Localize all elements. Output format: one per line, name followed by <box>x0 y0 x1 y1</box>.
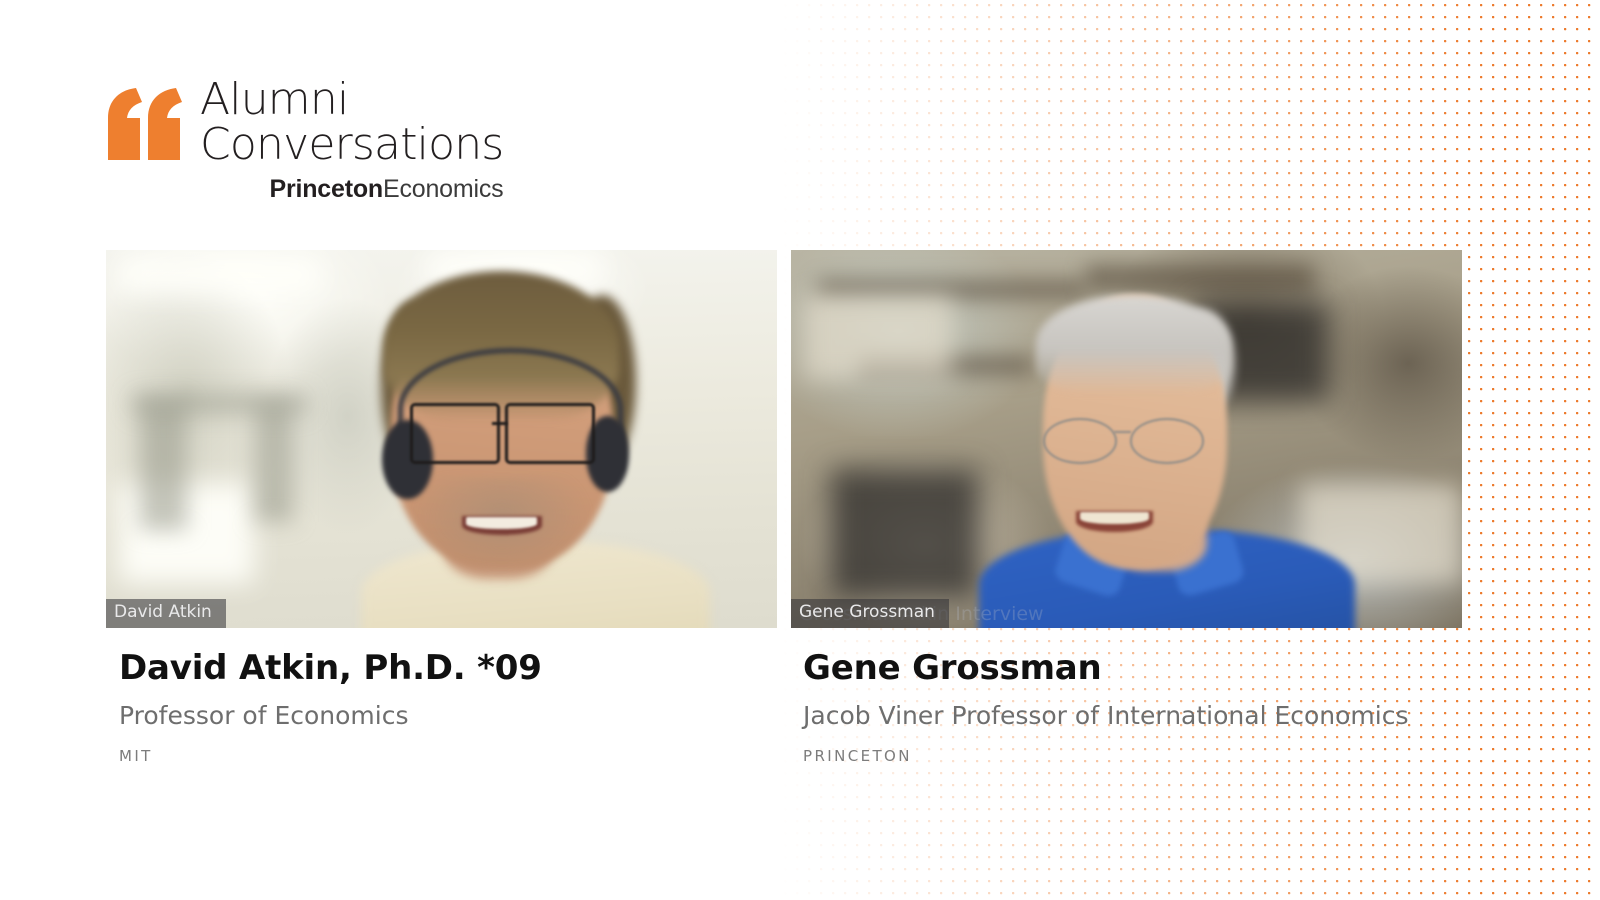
slide-canvas: Alumni Conversations PrincetonEconomics … <box>0 0 1600 900</box>
speaker-title: Jacob Viner Professor of International E… <box>803 697 1423 734</box>
eyeglasses-lens-left <box>410 403 500 464</box>
bookshelf-blur <box>1086 265 1314 291</box>
speaker-info-left: David Atkin, Ph.D. *09 Professor of Econ… <box>119 648 759 765</box>
video-tile-left[interactable]: David Atkin <box>106 250 777 628</box>
speaker-name: David Atkin, Ph.D. *09 <box>119 648 759 688</box>
person-hair <box>1036 295 1231 393</box>
video-tile-right[interactable]: Grossman Atkin Interview Gene Grossman <box>791 250 1462 628</box>
room-light-beam <box>119 258 320 292</box>
eyeglasses-lens-right <box>505 403 595 464</box>
quotation-mark-icon <box>106 88 182 160</box>
person-teeth <box>466 517 537 529</box>
logo-subtitle-regular: Economics <box>383 175 503 203</box>
eyeglasses-lens-right <box>1130 418 1204 464</box>
alumni-conversations-logo: Alumni Conversations PrincetonEconomics <box>106 78 503 202</box>
room-shadow <box>133 394 307 413</box>
room-shadow <box>140 401 187 530</box>
logo-line-1: Alumni <box>200 78 503 123</box>
speaker-organization: PRINCETON <box>803 747 1423 765</box>
speaker-title: Professor of Economics <box>119 697 759 734</box>
speaker-organization: MIT <box>119 747 759 765</box>
logo-subtitle: PrincetonEconomics <box>200 177 503 202</box>
eyeglasses-lens-left <box>1043 418 1117 464</box>
person-teeth <box>1080 512 1150 524</box>
study-shadow <box>831 469 979 598</box>
eyeglasses-bridge <box>492 422 507 425</box>
logo-line-2: Conversations <box>200 123 503 168</box>
logo-subtitle-bold: Princeton <box>269 175 383 203</box>
room-shadow <box>254 401 294 522</box>
video-name-label-left: David Atkin <box>106 599 226 628</box>
speaker-info-right: Gene Grossman Jacob Viner Professor of I… <box>803 648 1423 765</box>
study-highlight <box>804 295 952 378</box>
speaker-name: Gene Grossman <box>803 648 1423 688</box>
eyeglasses-bridge <box>1114 431 1130 433</box>
video-name-label-right: Gene Grossman <box>791 599 949 628</box>
